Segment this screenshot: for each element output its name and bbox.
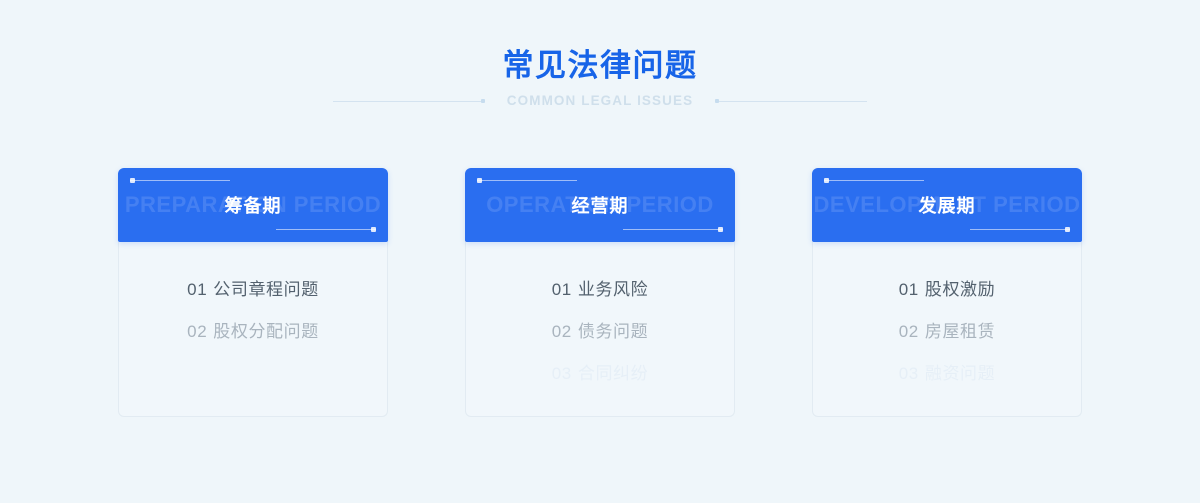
- item-label: 债务问题: [578, 322, 648, 341]
- issue-card-preparation[interactable]: PREPARATION PERIOD 筹备期 01公司章程问题 02股权分配问题: [118, 168, 388, 417]
- card-body: 01业务风险 02债务问题 03合同纠纷: [465, 242, 735, 417]
- item-number: 03: [899, 364, 919, 383]
- list-item[interactable]: 01公司章程问题: [119, 269, 387, 311]
- card-header: OPERATION PERIOD 经营期: [465, 168, 735, 242]
- item-label: 公司章程问题: [213, 280, 319, 299]
- list-item[interactable]: 02股权分配问题: [119, 311, 387, 353]
- card-body: 01公司章程问题 02股权分配问题: [118, 242, 388, 417]
- card-list: PREPARATION PERIOD 筹备期 01公司章程问题 02股权分配问题: [118, 168, 1082, 417]
- item-label: 股权分配问题: [213, 322, 319, 341]
- list-item[interactable]: 01业务风险: [466, 269, 734, 311]
- list-item[interactable]: 02房屋租赁: [813, 311, 1081, 353]
- rule-dot-icon: [715, 99, 719, 103]
- list-item[interactable]: 02债务问题: [466, 311, 734, 353]
- section-heading: 常见法律问题 COMMON LEGAL ISSUES: [0, 44, 1200, 108]
- decorative-rule-right: [715, 96, 867, 106]
- card-body: 01股权激励 02房屋租赁 03融资问题: [812, 242, 1082, 417]
- item-label: 房屋租赁: [925, 322, 995, 341]
- item-number: 01: [899, 280, 919, 299]
- page-root: 常见法律问题 COMMON LEGAL ISSUES PREPARATION P…: [0, 0, 1200, 503]
- list-item[interactable]: 01股权激励: [813, 269, 1081, 311]
- list-item[interactable]: 03合同纠纷: [466, 353, 734, 395]
- rule-dot-icon: [481, 99, 485, 103]
- item-label: 业务风险: [578, 280, 648, 299]
- card-header: DEVELOPMENT PERIOD 发展期: [812, 168, 1082, 242]
- item-number: 02: [899, 322, 919, 341]
- item-label: 合同纠纷: [578, 364, 648, 383]
- subtitle-row: COMMON LEGAL ISSUES: [0, 93, 1200, 108]
- item-number: 02: [187, 322, 207, 341]
- card-title: 发展期: [812, 168, 1082, 242]
- item-label: 股权激励: [925, 280, 995, 299]
- card-title: 筹备期: [118, 168, 388, 242]
- item-number: 03: [552, 364, 572, 383]
- item-number: 02: [552, 322, 572, 341]
- issue-card-operation[interactable]: OPERATION PERIOD 经营期 01业务风险 02债务问题 03合同纠…: [465, 168, 735, 417]
- item-label: 融资问题: [925, 364, 995, 383]
- list-item[interactable]: 03融资问题: [813, 353, 1081, 395]
- card-title: 经营期: [465, 168, 735, 242]
- page-title: 常见法律问题: [0, 44, 1200, 88]
- card-header: PREPARATION PERIOD 筹备期: [118, 168, 388, 242]
- list-item[interactable]: [119, 353, 387, 395]
- item-number: 01: [187, 280, 207, 299]
- issue-card-development[interactable]: DEVELOPMENT PERIOD 发展期 01股权激励 02房屋租赁 03融…: [812, 168, 1082, 417]
- decorative-rule-left: [333, 96, 485, 106]
- page-subtitle: COMMON LEGAL ISSUES: [485, 93, 715, 108]
- item-number: 01: [552, 280, 572, 299]
